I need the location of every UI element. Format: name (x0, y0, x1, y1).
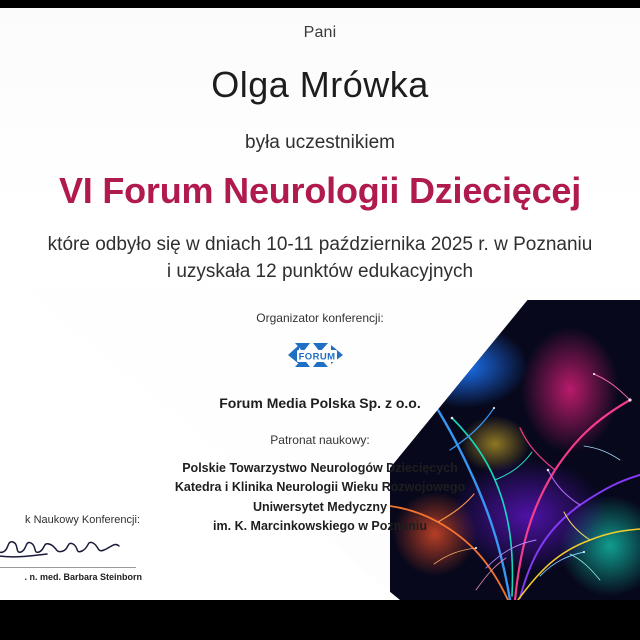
event-date-line-1: które odbyło się w dniach 10-11 paździer… (0, 232, 640, 257)
signature-role-label: k Naukowy Konferencji: (0, 514, 146, 526)
event-points-line: i uzyskała 12 punktów edukacyjnych (0, 259, 640, 284)
certificate-text-column: Pani Olga Mrówka była uczestnikiem VI Fo… (0, 8, 640, 536)
patronage-line: Polskie Towarzystwo Neurologów Dziecięcy… (0, 459, 640, 478)
svg-text:FORUM: FORUM (299, 352, 336, 363)
recipient-name: Olga Mrówka (0, 64, 640, 106)
patronage-line: Katedra i Klinika Neurologii Wieku Rozwo… (0, 478, 640, 497)
signer-name: . n. med. Barbara Steinborn (0, 572, 146, 582)
certificate-page: Pani Olga Mrówka była uczestnikiem VI Fo… (0, 0, 640, 640)
organizer-logo: FORUM (0, 337, 640, 383)
organizer-label: Organizator konferencji: (0, 311, 640, 325)
event-title: VI Forum Neurologii Dziecięcej (0, 170, 640, 212)
salutation: Pani (0, 24, 640, 42)
letterbox-bottom (0, 600, 640, 640)
organizer-name: Forum Media Polska Sp. z o.o. (0, 395, 640, 411)
signature-block: k Naukowy Konferencji: . n. med. Barbara… (0, 514, 146, 582)
patronage-label: Patronat naukowy: (0, 433, 640, 447)
participation-line: była uczestnikiem (0, 132, 640, 154)
forum-logo-icon: FORUM (283, 337, 357, 383)
signature-rule (0, 567, 136, 568)
handwritten-signature-icon (0, 530, 144, 560)
letterbox-top (0, 0, 640, 8)
